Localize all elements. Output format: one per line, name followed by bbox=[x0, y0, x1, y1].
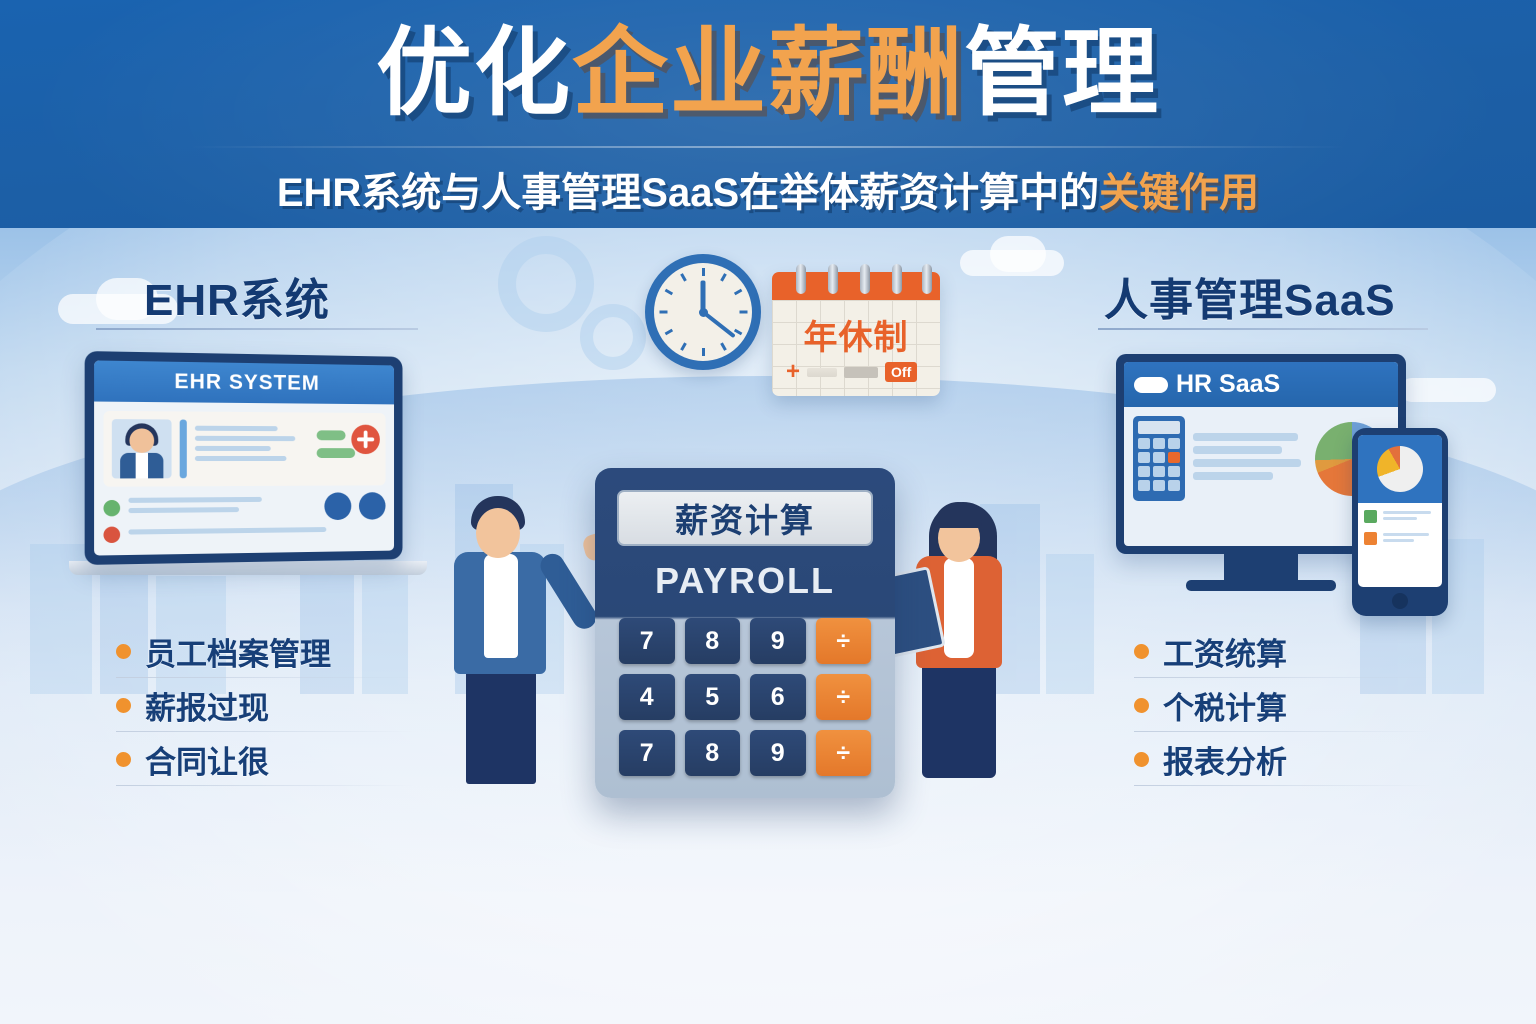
card-accent-bar bbox=[180, 420, 187, 479]
calculator-brand-label: PAYROLL bbox=[595, 560, 895, 602]
ehr-app-titlebar: EHR SYSTEM bbox=[94, 360, 394, 404]
spiral-binding bbox=[892, 264, 902, 294]
check-status-icon bbox=[103, 500, 120, 517]
list-item: 报表分析 bbox=[1134, 732, 1464, 786]
header-band: 优化企业薪酬管理 EHR系统与人事管理SaaS在举体薪资计算中的关键作用 bbox=[0, 0, 1536, 232]
ehr-action-row bbox=[103, 523, 385, 543]
saas-app-titlebar: HR SaaS bbox=[1124, 362, 1398, 407]
calculator-display: 薪资计算 bbox=[617, 490, 873, 546]
bullet-dot bbox=[116, 752, 131, 767]
right-panel-rule bbox=[1098, 328, 1428, 330]
list-item-label: 报表分析 bbox=[1163, 737, 1287, 782]
main-stage: EHR系统 EHR SYSTEM bbox=[0, 228, 1536, 1024]
card-text-lines bbox=[195, 420, 309, 479]
calendar-linebar bbox=[807, 368, 837, 377]
list-item-label: 工资统算 bbox=[1163, 629, 1287, 674]
subtitle-part-1: EHR系统与人事管理SaaS在举体薪资计算中的 bbox=[277, 171, 1099, 215]
monitor-foot bbox=[1186, 580, 1336, 591]
ehr-app-body bbox=[94, 402, 394, 553]
subtitle-part-2: 关键作用 bbox=[1099, 171, 1259, 215]
off-badge: Off bbox=[885, 362, 917, 382]
phone-home-button[interactable] bbox=[1392, 593, 1408, 609]
spiral-binding bbox=[828, 264, 838, 294]
mail-icon[interactable] bbox=[359, 492, 386, 520]
bullet-dot bbox=[1134, 752, 1149, 767]
list-item-label: 合同让很 bbox=[145, 737, 269, 782]
bullet-dot bbox=[1134, 698, 1149, 713]
calc-key[interactable]: 8 bbox=[685, 618, 741, 664]
laptop-lid: EHR SYSTEM bbox=[85, 351, 403, 565]
cloud-icon bbox=[990, 236, 1046, 272]
calendar-greybar bbox=[844, 367, 878, 378]
bullet-dot bbox=[116, 698, 131, 713]
ehr-action-row bbox=[103, 492, 385, 522]
calc-key-divide[interactable]: ÷ bbox=[816, 674, 872, 720]
calc-key-divide[interactable]: ÷ bbox=[816, 618, 872, 664]
bullet-dot bbox=[116, 644, 131, 659]
list-item: 薪报过现 bbox=[116, 678, 446, 732]
cloud-icon bbox=[1400, 378, 1496, 402]
avatar bbox=[112, 419, 172, 478]
list-item-label: 薪报过现 bbox=[145, 683, 269, 728]
cloud-icon bbox=[1134, 377, 1168, 393]
calc-key[interactable]: 8 bbox=[685, 730, 741, 776]
legend-swatch-green bbox=[1364, 510, 1377, 523]
list-separator bbox=[116, 785, 416, 786]
title-part-3: 管理 bbox=[964, 20, 1160, 127]
list-item: 工资统算 bbox=[1134, 624, 1464, 678]
list-item-label: 个税计算 bbox=[1163, 683, 1287, 728]
plus-icon: + bbox=[786, 360, 800, 384]
bullet-dot bbox=[1134, 644, 1149, 659]
left-panel-title: EHR系统 bbox=[144, 264, 330, 328]
infographic-poster: 优化企业薪酬管理 EHR系统与人事管理SaaS在举体薪资计算中的关键作用 bbox=[0, 0, 1536, 1024]
monitor-stand bbox=[1224, 554, 1298, 580]
list-separator bbox=[1134, 785, 1434, 786]
phone-device bbox=[1352, 428, 1448, 616]
calc-key[interactable]: 7 bbox=[619, 730, 675, 776]
person-female-tablet bbox=[898, 494, 1088, 814]
list-item-label: 员工档案管理 bbox=[145, 629, 331, 674]
clock-icon bbox=[645, 254, 761, 370]
list-item: 员工档案管理 bbox=[116, 624, 446, 678]
card-status-widget bbox=[317, 420, 378, 477]
calculator-icon bbox=[1133, 416, 1185, 501]
calc-key[interactable]: 7 bbox=[619, 618, 675, 664]
calc-key[interactable]: 9 bbox=[750, 730, 806, 776]
legend-swatch-orange bbox=[1364, 532, 1377, 545]
spiral-binding bbox=[922, 264, 932, 294]
gear-icon bbox=[580, 304, 646, 370]
saas-app-title: HR SaaS bbox=[1176, 370, 1280, 399]
calc-key-divide[interactable]: ÷ bbox=[816, 730, 872, 776]
right-panel-title: 人事管理SaaS bbox=[1104, 264, 1396, 328]
right-bullet-list: 工资统算 个税计算 报表分析 bbox=[1134, 624, 1464, 786]
calc-key[interactable]: 9 bbox=[750, 618, 806, 664]
phone-screen bbox=[1358, 435, 1442, 587]
calculator-display-text: 薪资计算 bbox=[675, 494, 815, 542]
list-item-lines bbox=[1383, 533, 1436, 545]
phone-chart-panel bbox=[1358, 435, 1442, 503]
list-item-lines bbox=[1383, 511, 1436, 523]
list-item bbox=[1364, 532, 1436, 545]
calculator-keypad: 7 8 9 ÷ 4 5 6 ÷ 7 8 9 ÷ bbox=[619, 618, 871, 776]
alert-status-icon bbox=[103, 527, 120, 544]
page-subtitle: EHR系统与人事管理SaaS在举体薪资计算中的关键作用 bbox=[0, 160, 1536, 218]
list-item bbox=[1364, 510, 1436, 523]
add-record-icon[interactable] bbox=[324, 492, 351, 520]
clock-face bbox=[654, 263, 752, 361]
left-bullet-list: 员工档案管理 薪报过现 合同让很 bbox=[116, 624, 446, 786]
laptop-device: EHR SYSTEM bbox=[88, 354, 408, 575]
gear-icon bbox=[498, 236, 594, 332]
calc-key[interactable]: 5 bbox=[685, 674, 741, 720]
title-part-2: 企业薪酬 bbox=[572, 20, 964, 127]
spiral-binding bbox=[796, 264, 806, 294]
title-part-1: 优化 bbox=[376, 20, 572, 127]
pie-chart bbox=[1377, 446, 1423, 492]
calc-key[interactable]: 6 bbox=[750, 674, 806, 720]
employee-card bbox=[103, 411, 385, 487]
medical-search-icon bbox=[351, 425, 380, 454]
calendar-footer-row: + Off bbox=[786, 360, 917, 384]
left-panel-rule bbox=[96, 328, 418, 330]
ehr-app-title: EHR SYSTEM bbox=[174, 370, 319, 396]
saas-text-lines bbox=[1193, 433, 1307, 485]
list-item: 个税计算 bbox=[1134, 678, 1464, 732]
phone-list bbox=[1358, 503, 1442, 552]
laptop-screen: EHR SYSTEM bbox=[94, 360, 394, 555]
page-title: 优化企业薪酬管理 bbox=[0, 24, 1536, 124]
list-item: 合同让很 bbox=[116, 732, 446, 786]
spiral-binding bbox=[860, 264, 870, 294]
calendar-label: 年休制 bbox=[772, 310, 940, 359]
title-divider bbox=[190, 146, 1346, 148]
payroll-calculator: 薪资计算 PAYROLL 7 8 9 ÷ 4 5 6 ÷ 7 8 9 ÷ bbox=[595, 468, 895, 798]
calc-key[interactable]: 4 bbox=[619, 674, 675, 720]
